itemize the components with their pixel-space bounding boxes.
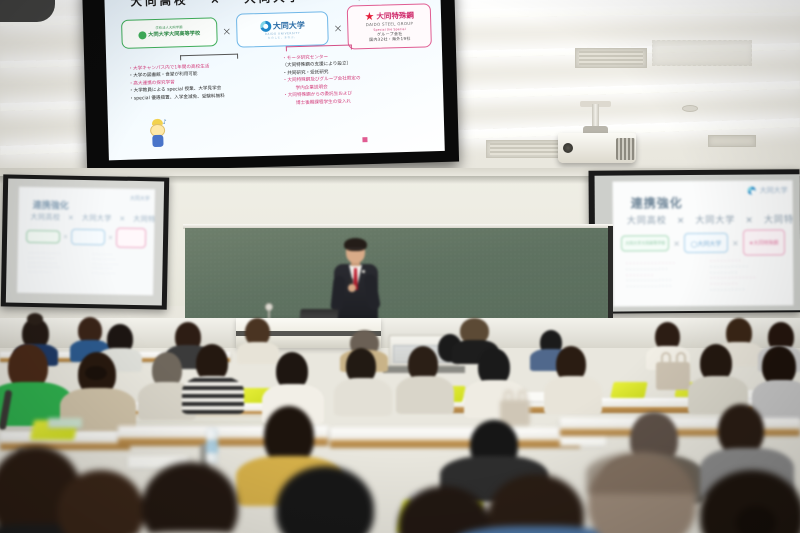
smoke-detector-icon bbox=[682, 105, 698, 112]
speaker-lapel-pin-icon bbox=[362, 270, 365, 273]
speaker-presenter bbox=[332, 240, 380, 322]
left-slide-bullets-left: ・・・・・・・・・・・・・・・・・・・・・・・・・・・・・・・・・・・・・・・・… bbox=[27, 251, 60, 276]
separator-x-2: × bbox=[333, 21, 343, 34]
logo-daido-steel: ★ 大同特殊鋼 DAIDO STEEL GROUP Special the Sp… bbox=[347, 3, 432, 49]
yellow-tote-bag bbox=[610, 382, 647, 398]
main-slide-right-bullets: ・モータ研究センター （大同特殊鋼の支援により設立） ・共同研究・受託研究 ・大… bbox=[282, 53, 361, 107]
ceiling-air-vent-2-grill bbox=[490, 143, 564, 155]
main-slide-left-bullets: ・大学キャンパス内で1年間の高校生活 ・大学の図書館・食堂が利用可能 ・高大連携… bbox=[128, 63, 225, 103]
attendee-body bbox=[237, 342, 279, 364]
daido-ring-icon bbox=[260, 20, 271, 31]
left-slide-title: 連携強化 bbox=[33, 198, 69, 212]
left-slide-logo-row: × × bbox=[26, 225, 146, 249]
logo-steel-note-2: 国内32社・海外19社 bbox=[369, 36, 411, 43]
lecture-hall-photo: 大同高校 × 大同大学 × 大同特殊鋼 学校法人大同学園 大同大学大同高等学校 … bbox=[0, 0, 800, 533]
handout-paper-green bbox=[48, 418, 82, 428]
green-circle-icon bbox=[138, 31, 146, 39]
handbag-handle bbox=[676, 352, 686, 364]
logo-daido-high-school: 学校法人大同学園 大同大学大同高等学校 bbox=[121, 17, 218, 49]
ceiling-panel-seam-1 bbox=[652, 40, 752, 66]
handbag bbox=[656, 362, 690, 390]
speaker-glasses-icon bbox=[347, 248, 364, 252]
water-bottle-label bbox=[206, 440, 218, 453]
logo-hs-text: 大同大学大同高等学校 bbox=[148, 30, 200, 38]
logo-daido-university: 大同大学 DAIDO UNIVERSITY たのしむ、まなぶ。 bbox=[236, 11, 329, 48]
handbag-handle bbox=[504, 390, 513, 402]
ceiling-speaker-box bbox=[0, 0, 55, 22]
attendee-body bbox=[544, 376, 602, 414]
attendee-body bbox=[396, 376, 454, 414]
attendee-body bbox=[334, 378, 392, 416]
left-bullet-4: ・special 優遇措置、入学金減免、受験料無料 bbox=[129, 93, 225, 103]
foreground-hair bbox=[586, 452, 698, 494]
handout-paper bbox=[560, 436, 606, 446]
handbag-handle bbox=[661, 352, 671, 364]
right-slide-bullets-left: ・・・・・・・・・・・・・・ ・・・・・・・・・・・・ ・・・・・・・・ ・・・… bbox=[625, 261, 676, 290]
right-slide-bullets-right: ・・・・・・・・・ ・・・・・・・・・・・ ・・・・・・・・ ・・・・・・・・・… bbox=[709, 259, 756, 294]
right-side-screen: 連携強化 大同高校 × 大同大学 × 大同特殊鋼 大同大学 大同大学大同高等学校… bbox=[589, 169, 800, 313]
attendee-hair-clip bbox=[85, 366, 107, 380]
right-corner-logo-text: 大同大学 bbox=[760, 185, 788, 195]
projector-mount-pole bbox=[592, 104, 599, 128]
right-screen-slide: 連携強化 大同高校 × 大同大学 × 大同特殊鋼 大同大学 大同大学大同高等学校… bbox=[613, 180, 794, 306]
handbag-handle bbox=[518, 390, 527, 402]
projector-lens-icon bbox=[563, 143, 573, 153]
music-note-icon: ♪ bbox=[163, 119, 167, 126]
foreground-head bbox=[142, 462, 238, 533]
daido-ring-icon-small bbox=[748, 187, 756, 195]
right-slide-logo-row: 大同大学大同高等学校 × ◯大同大学 × ★大同特殊鋼 bbox=[621, 228, 785, 257]
attendee-hair-bun bbox=[27, 313, 43, 325]
desk-edge bbox=[330, 440, 580, 448]
left-side-screen: 連携強化 大同高校 × 大同大学 × 大同特殊鋼 大同大学 × × ・・・・・・… bbox=[1, 174, 170, 309]
main-slide-logo-row: 学校法人大同学園 大同大学大同高等学校 × 大同大学 DAIDO UNIVERS… bbox=[117, 3, 436, 56]
projector-vent bbox=[616, 138, 635, 160]
main-projection-screen: 大同高校 × 大同大学 × 大同特殊鋼 学校法人大同学園 大同大学大同高等学校 … bbox=[82, 0, 459, 172]
right-slide-corner-logo: 大同大学 bbox=[748, 185, 788, 195]
desk-edge bbox=[560, 429, 800, 436]
right-slide-title: 連携強化 bbox=[631, 194, 683, 211]
logo-univ-text: 大同大学 bbox=[273, 19, 305, 31]
brace-left bbox=[180, 54, 238, 61]
main-slide: 大同高校 × 大同大学 × 大同特殊鋼 学校法人大同学園 大同大学大同高等学校 … bbox=[104, 0, 445, 160]
separator-x-1: × bbox=[222, 24, 232, 37]
attendee-body-striped bbox=[182, 376, 244, 414]
brace-right bbox=[286, 44, 352, 51]
right-bullet-6: 博士後期課程学生の受入れ bbox=[283, 98, 361, 108]
logo-univ-tagline: たのしむ、まなぶ。 bbox=[268, 35, 298, 40]
speaker-hand bbox=[348, 284, 356, 292]
slide-pink-marker bbox=[362, 137, 367, 142]
ceiling-air-vent-3 bbox=[708, 135, 756, 147]
left-screen-slide: 連携強化 大同高校 × 大同大学 × 大同特殊鋼 大同大学 × × ・・・・・・… bbox=[17, 187, 155, 296]
ceiling-air-vent-1-grill bbox=[579, 51, 643, 65]
left-slide-bullets-right: ・・・・・・・・・・・・・・・・・・・・・・・・・・・・・・・・・・・・・・・ bbox=[91, 252, 118, 276]
red-star-icon: ★ bbox=[364, 11, 374, 22]
left-slide-corner-logo: 大同大学 bbox=[130, 195, 150, 202]
daido-mascot-icon: ♪ bbox=[148, 119, 168, 148]
gooseneck-mic-head-icon bbox=[265, 303, 273, 311]
foreground-hair-bun bbox=[736, 506, 776, 533]
left-slide-subtitle: 大同高校 × 大同大学 × 大同特殊鋼 bbox=[30, 212, 155, 225]
right-slide-subtitle: 大同高校 × 大同大学 × 大同特殊鋼 bbox=[627, 212, 794, 226]
